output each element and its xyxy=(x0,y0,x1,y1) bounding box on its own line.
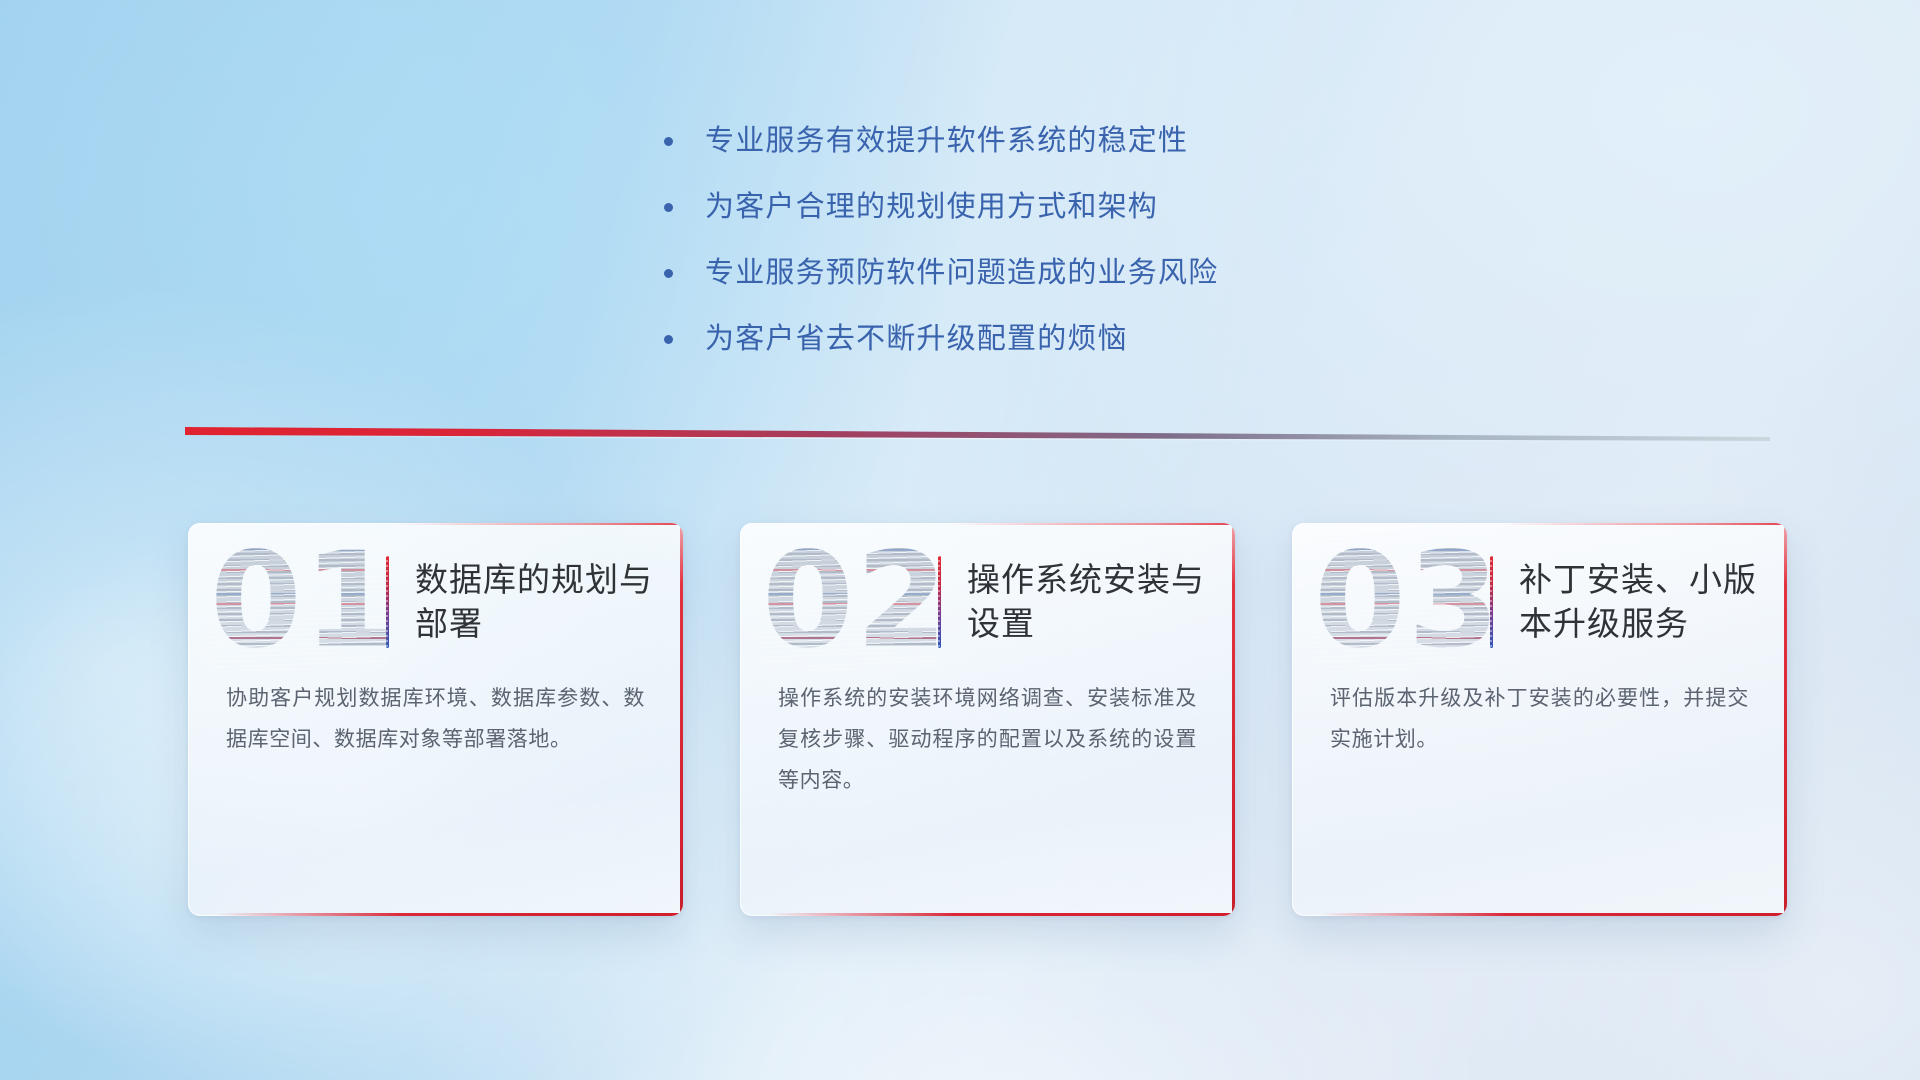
feature-card-03[interactable]: 03 03 补丁安装、小版本升级服务 评估版本升级及补丁安装的必要性，并提交实施… xyxy=(1292,523,1787,916)
card-number-tint: 02 xyxy=(762,535,950,667)
card-title: 补丁安装、小版本升级服务 xyxy=(1519,558,1761,646)
list-item: 专业服务有效提升软件系统的稳定性 xyxy=(664,108,1218,174)
bullet-list: 专业服务有效提升软件系统的稳定性 为客户合理的规划使用方式和架构 专业服务预防软… xyxy=(664,108,1218,372)
card-bottom-accent xyxy=(216,913,683,916)
card-number-tint: 03 xyxy=(1314,535,1502,667)
card-bottom-accent xyxy=(1320,913,1787,916)
list-item: 为客户合理的规划使用方式和架构 xyxy=(664,174,1218,240)
divider-shape-icon xyxy=(185,424,1770,446)
list-item: 为客户省去不断升级配置的烦恼 xyxy=(664,306,1218,372)
section-divider xyxy=(185,424,1770,446)
bullet-dot-icon xyxy=(664,269,673,278)
feature-card-01[interactable]: 01 01 数据库的规划与部署 协助客户规划数据库环境、数据库参数、数据库空间、… xyxy=(188,523,683,916)
bullet-text: 为客户省去不断升级配置的烦恼 xyxy=(705,325,1128,354)
bullet-dot-icon xyxy=(664,137,673,146)
slide-canvas: 专业服务有效提升软件系统的稳定性 为客户合理的规划使用方式和架构 专业服务预防软… xyxy=(0,0,1920,1080)
bullet-dot-icon xyxy=(664,203,673,212)
feature-card-02[interactable]: 02 02 操作系统安装与设置 操作系统的安装环境网络调查、安装标准及复核步骤、… xyxy=(740,523,1235,916)
bullet-text: 专业服务预防软件问题造成的业务风险 xyxy=(705,259,1218,288)
bullet-text: 为客户合理的规划使用方式和架构 xyxy=(705,193,1158,222)
card-number-watermark: 01 01 xyxy=(210,543,382,661)
bullet-text: 专业服务有效提升软件系统的稳定性 xyxy=(705,127,1188,156)
card-number-watermark: 03 03 xyxy=(1314,543,1486,661)
list-item: 专业服务预防软件问题造成的业务风险 xyxy=(664,240,1218,306)
card-header: 02 02 操作系统安装与设置 xyxy=(740,523,1235,651)
card-bottom-accent xyxy=(768,913,1235,916)
card-number-watermark: 02 02 xyxy=(762,543,934,661)
card-header: 03 03 补丁安装、小版本升级服务 xyxy=(1292,523,1787,651)
bullet-dot-icon xyxy=(664,335,673,344)
card-header: 01 01 数据库的规划与部署 xyxy=(188,523,683,651)
feature-card-list: 01 01 数据库的规划与部署 协助客户规划数据库环境、数据库参数、数据库空间、… xyxy=(188,523,1788,916)
card-title: 操作系统安装与设置 xyxy=(967,558,1209,646)
card-number-tint: 01 xyxy=(210,535,398,667)
card-title: 数据库的规划与部署 xyxy=(415,558,657,646)
